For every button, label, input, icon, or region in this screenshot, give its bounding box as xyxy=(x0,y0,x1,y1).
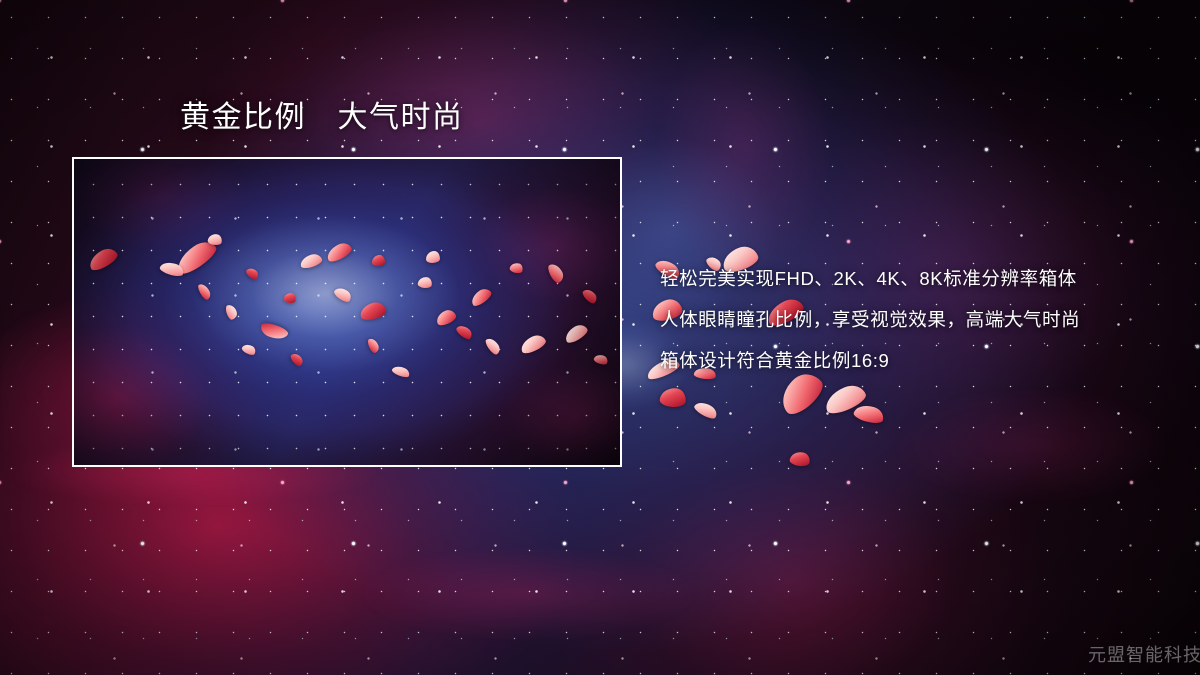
body-line-2: 人体眼睛瞳孔比例，享受视觉效果，高端大气时尚 xyxy=(660,299,1190,340)
framed-photo xyxy=(72,157,622,467)
rose-petal xyxy=(693,399,720,421)
slide-title: 黄金比例 大气时尚 xyxy=(180,100,464,137)
rose-petal xyxy=(852,402,885,426)
photo-vignette xyxy=(74,159,620,465)
presentation-slide: 黄金比例 大气时尚 轻松完美实现FHD、2K、4K、8K标准分辨率箱体 人体眼睛… xyxy=(0,0,1200,675)
body-line-1: 轻松完美实现FHD、2K、4K、8K标准分辨率箱体 xyxy=(660,258,1190,299)
rose-petal xyxy=(789,450,811,467)
body-text-block: 轻松完美实现FHD、2K、4K、8K标准分辨率箱体 人体眼睛瞳孔比例，享受视觉效… xyxy=(660,258,1190,381)
company-watermark: 元盟智能科技 xyxy=(1088,641,1200,667)
rose-petal xyxy=(659,387,687,409)
body-line-3: 箱体设计符合黄金比例16:9 xyxy=(660,340,1190,381)
